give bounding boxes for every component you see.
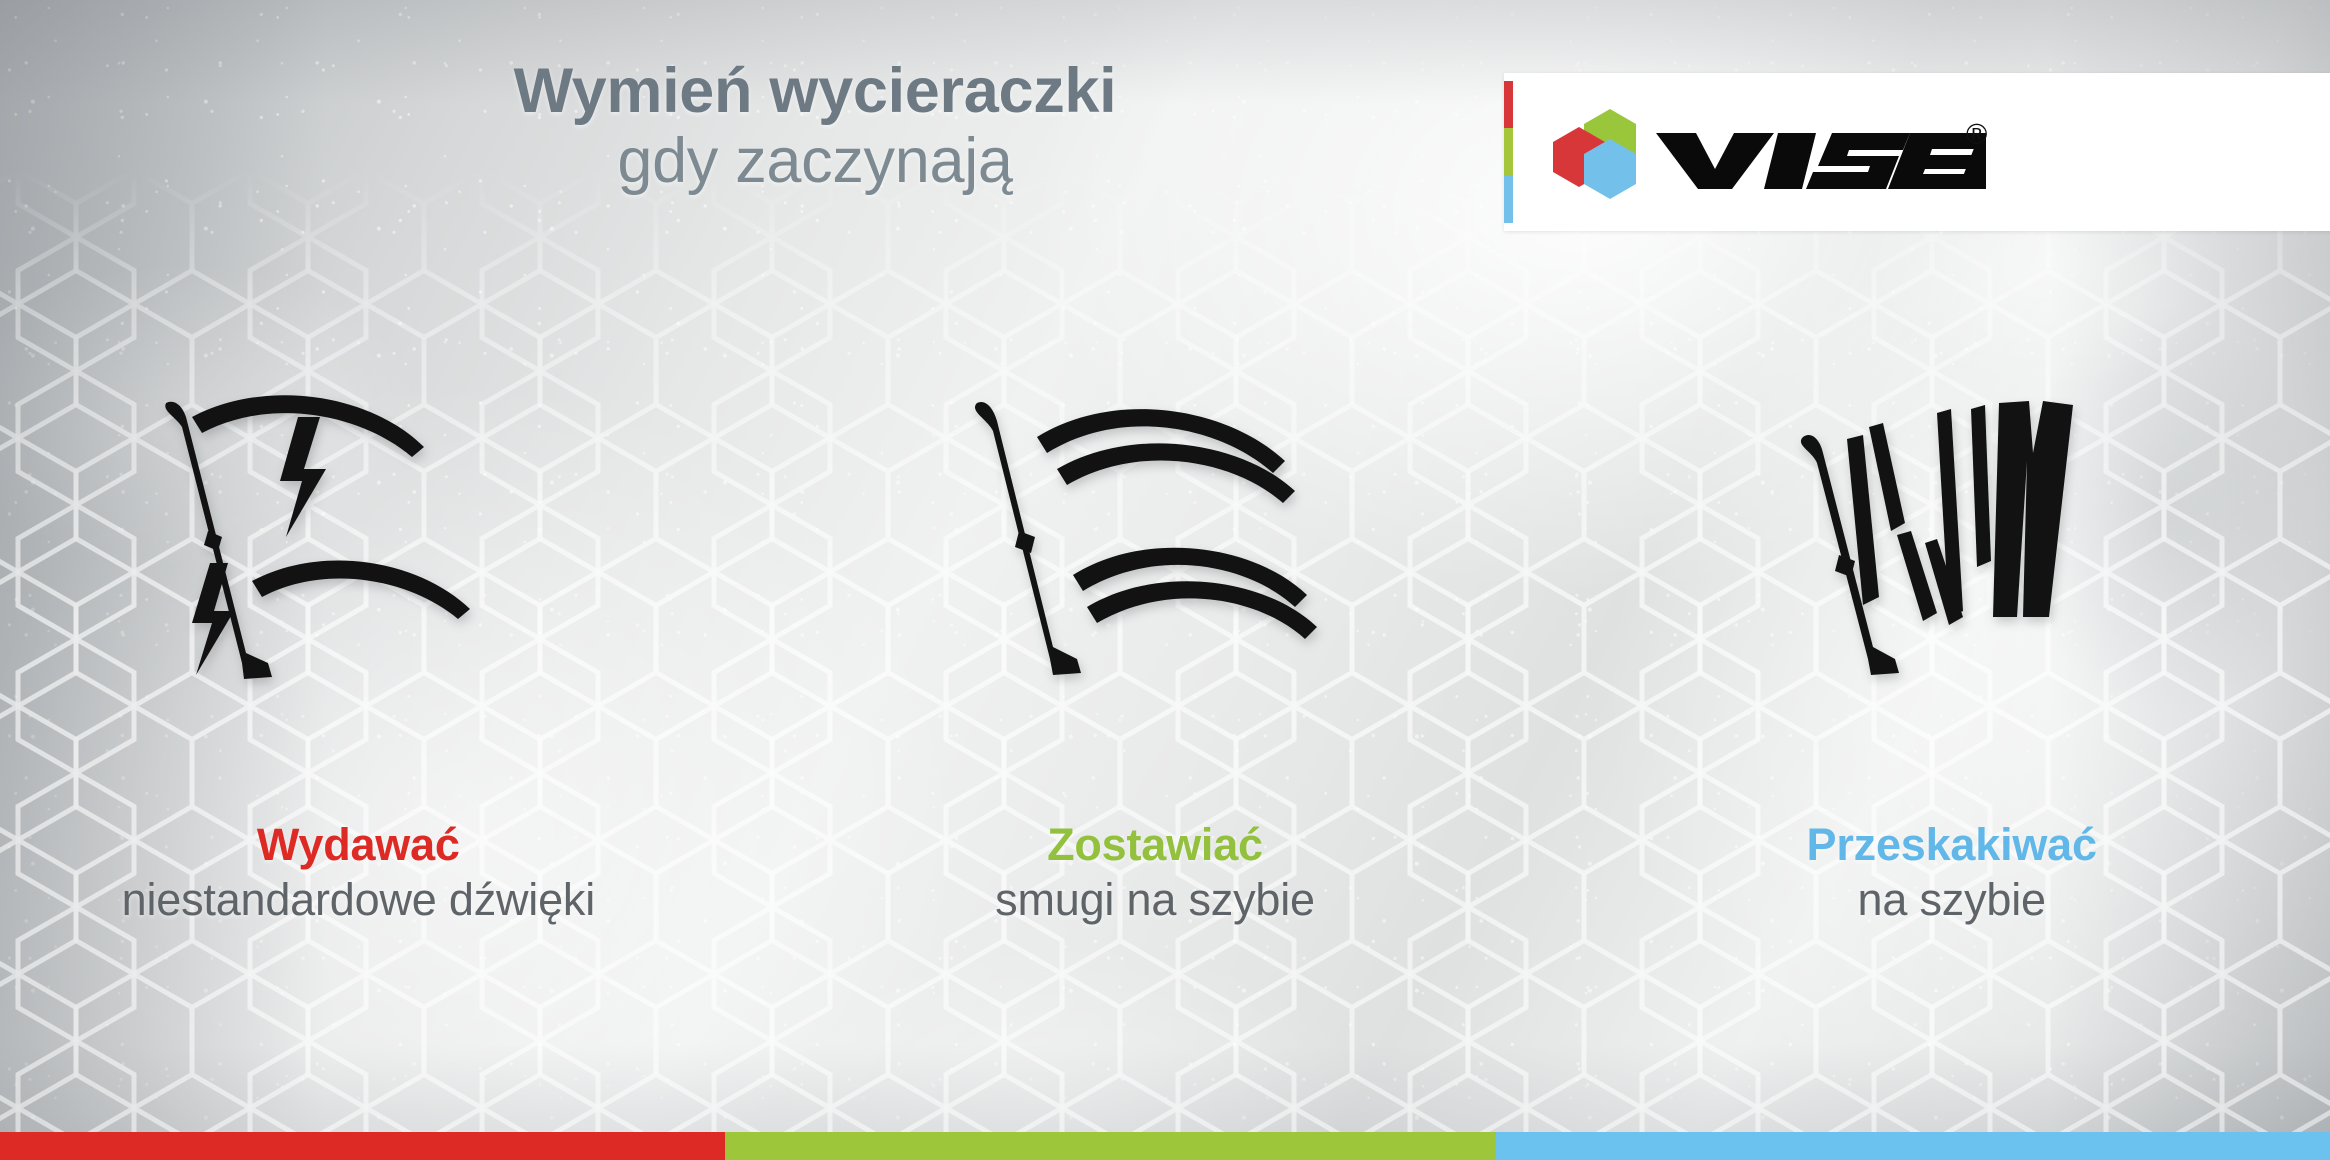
wiper-blade-streaks-icon — [955, 395, 1355, 725]
promo-banner: Wymień wycieraczki gdy zaczynają — [0, 0, 2330, 1160]
caption-cell-juddering: Przeskakiwać na szybie — [1563, 818, 2330, 929]
caption-title-juddering: Przeskakiwać — [1587, 818, 2316, 871]
stripe-segment-blue — [1504, 176, 1513, 223]
bottom-bar-segment-red — [0, 1132, 725, 1160]
icon-cell-juddering — [1563, 300, 2330, 820]
hexagon-cluster-icon — [1552, 105, 1652, 201]
bottom-color-bar — [0, 1132, 2330, 1160]
caption-title-noise: Wydawać — [0, 818, 723, 871]
stripe-segment-green — [1504, 128, 1513, 175]
caption-cell-streaks: Zostawiać smugi na szybie — [767, 818, 1544, 929]
caption-title-streaks: Zostawiać — [791, 818, 1520, 871]
brand-logo-plate: ® — [1504, 73, 2330, 231]
symptom-icon-row — [0, 300, 2330, 820]
icon-cell-streaks — [767, 300, 1544, 820]
symptom-caption-row: Wydawać niestandardowe dźwięki Zostawiać… — [0, 818, 2330, 929]
caption-subtitle-streaks: smugi na szybie — [791, 871, 1520, 929]
wiper-blade-juddering-icon — [1787, 395, 2117, 725]
caption-subtitle-juddering: na szybie — [1587, 871, 2316, 929]
caption-subtitle-noise: niestandardowe dźwięki — [0, 871, 723, 929]
bottom-bar-segment-blue — [1496, 1132, 2330, 1160]
icon-cell-noise — [0, 300, 747, 820]
registered-trademark-icon: ® — [1966, 121, 1987, 150]
caption-cell-noise: Wydawać niestandardowe dźwięki — [0, 818, 747, 929]
bottom-bar-segment-green — [725, 1132, 1496, 1160]
visee-logo: ® — [1552, 105, 1986, 201]
stripe-segment-red — [1504, 81, 1513, 128]
visee-wordmark — [1656, 117, 1986, 189]
logo-accent-stripe — [1504, 81, 1513, 223]
wiper-blade-noise-icon — [148, 395, 568, 725]
